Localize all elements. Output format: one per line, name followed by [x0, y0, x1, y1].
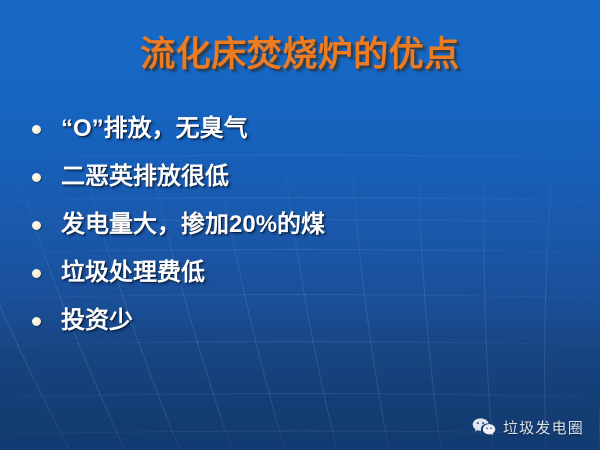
- presentation-slide: 流化床焚烧炉的优点 “O”排放，无臭气 二恶英排放很低 发电量大，掺加20%的煤…: [0, 0, 600, 450]
- wechat-icon: [472, 417, 496, 438]
- watermark-label: 垃圾发电圈: [503, 417, 584, 438]
- bullet-item-label: “O”排放，无臭气: [61, 112, 248, 146]
- list-item: 发电量大，掺加20%的煤: [32, 208, 572, 256]
- bullet-dot-icon: [32, 173, 41, 182]
- bullet-item-label: 发电量大，掺加20%的煤: [61, 208, 325, 242]
- list-item: 垃圾处理费低: [32, 256, 572, 304]
- list-item: “O”排放，无臭气: [32, 112, 572, 160]
- watermark: 垃圾发电圈: [472, 417, 584, 438]
- bullet-dot-icon: [32, 317, 41, 326]
- bullet-dot-icon: [32, 269, 41, 278]
- slide-title: 流化床焚烧炉的优点: [0, 26, 600, 77]
- bullet-item-label: 投资少: [61, 304, 133, 338]
- bullet-list: “O”排放，无臭气 二恶英排放很低 发电量大，掺加20%的煤 垃圾处理费低 投资…: [32, 112, 572, 352]
- list-item: 投资少: [32, 304, 572, 352]
- list-item: 二恶英排放很低: [32, 160, 572, 208]
- bullet-dot-icon: [32, 221, 41, 230]
- bullet-dot-icon: [32, 125, 41, 134]
- bullet-item-label: 垃圾处理费低: [61, 256, 205, 290]
- bullet-item-label: 二恶英排放很低: [61, 160, 229, 194]
